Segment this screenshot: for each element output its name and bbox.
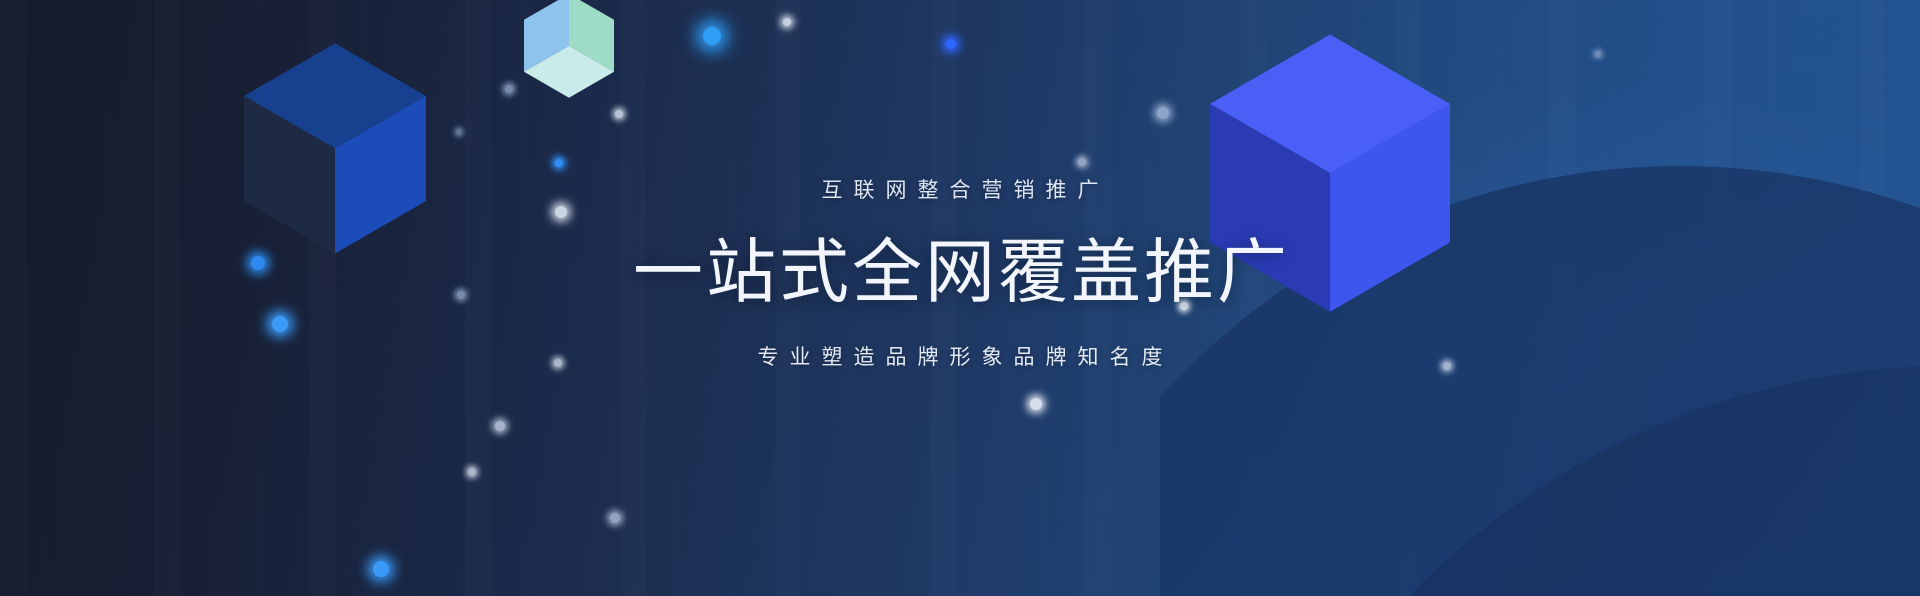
promo-banner: 互联网整合营销推广 一站式全网覆盖推广 专业塑造品牌形象品牌知名度 — [0, 0, 1920, 596]
mint-cube-icon — [524, 0, 614, 98]
banner-text-block: 互联网整合营销推广 一站式全网覆盖推广 专业塑造品牌形象品牌知名度 — [0, 180, 1920, 368]
banner-headline: 一站式全网覆盖推广 — [3, 237, 1920, 307]
banner-subline: 专业塑造品牌形象品牌知名度 — [11, 347, 1920, 368]
banner-eyebrow: 互联网整合营销推广 — [11, 180, 1920, 201]
